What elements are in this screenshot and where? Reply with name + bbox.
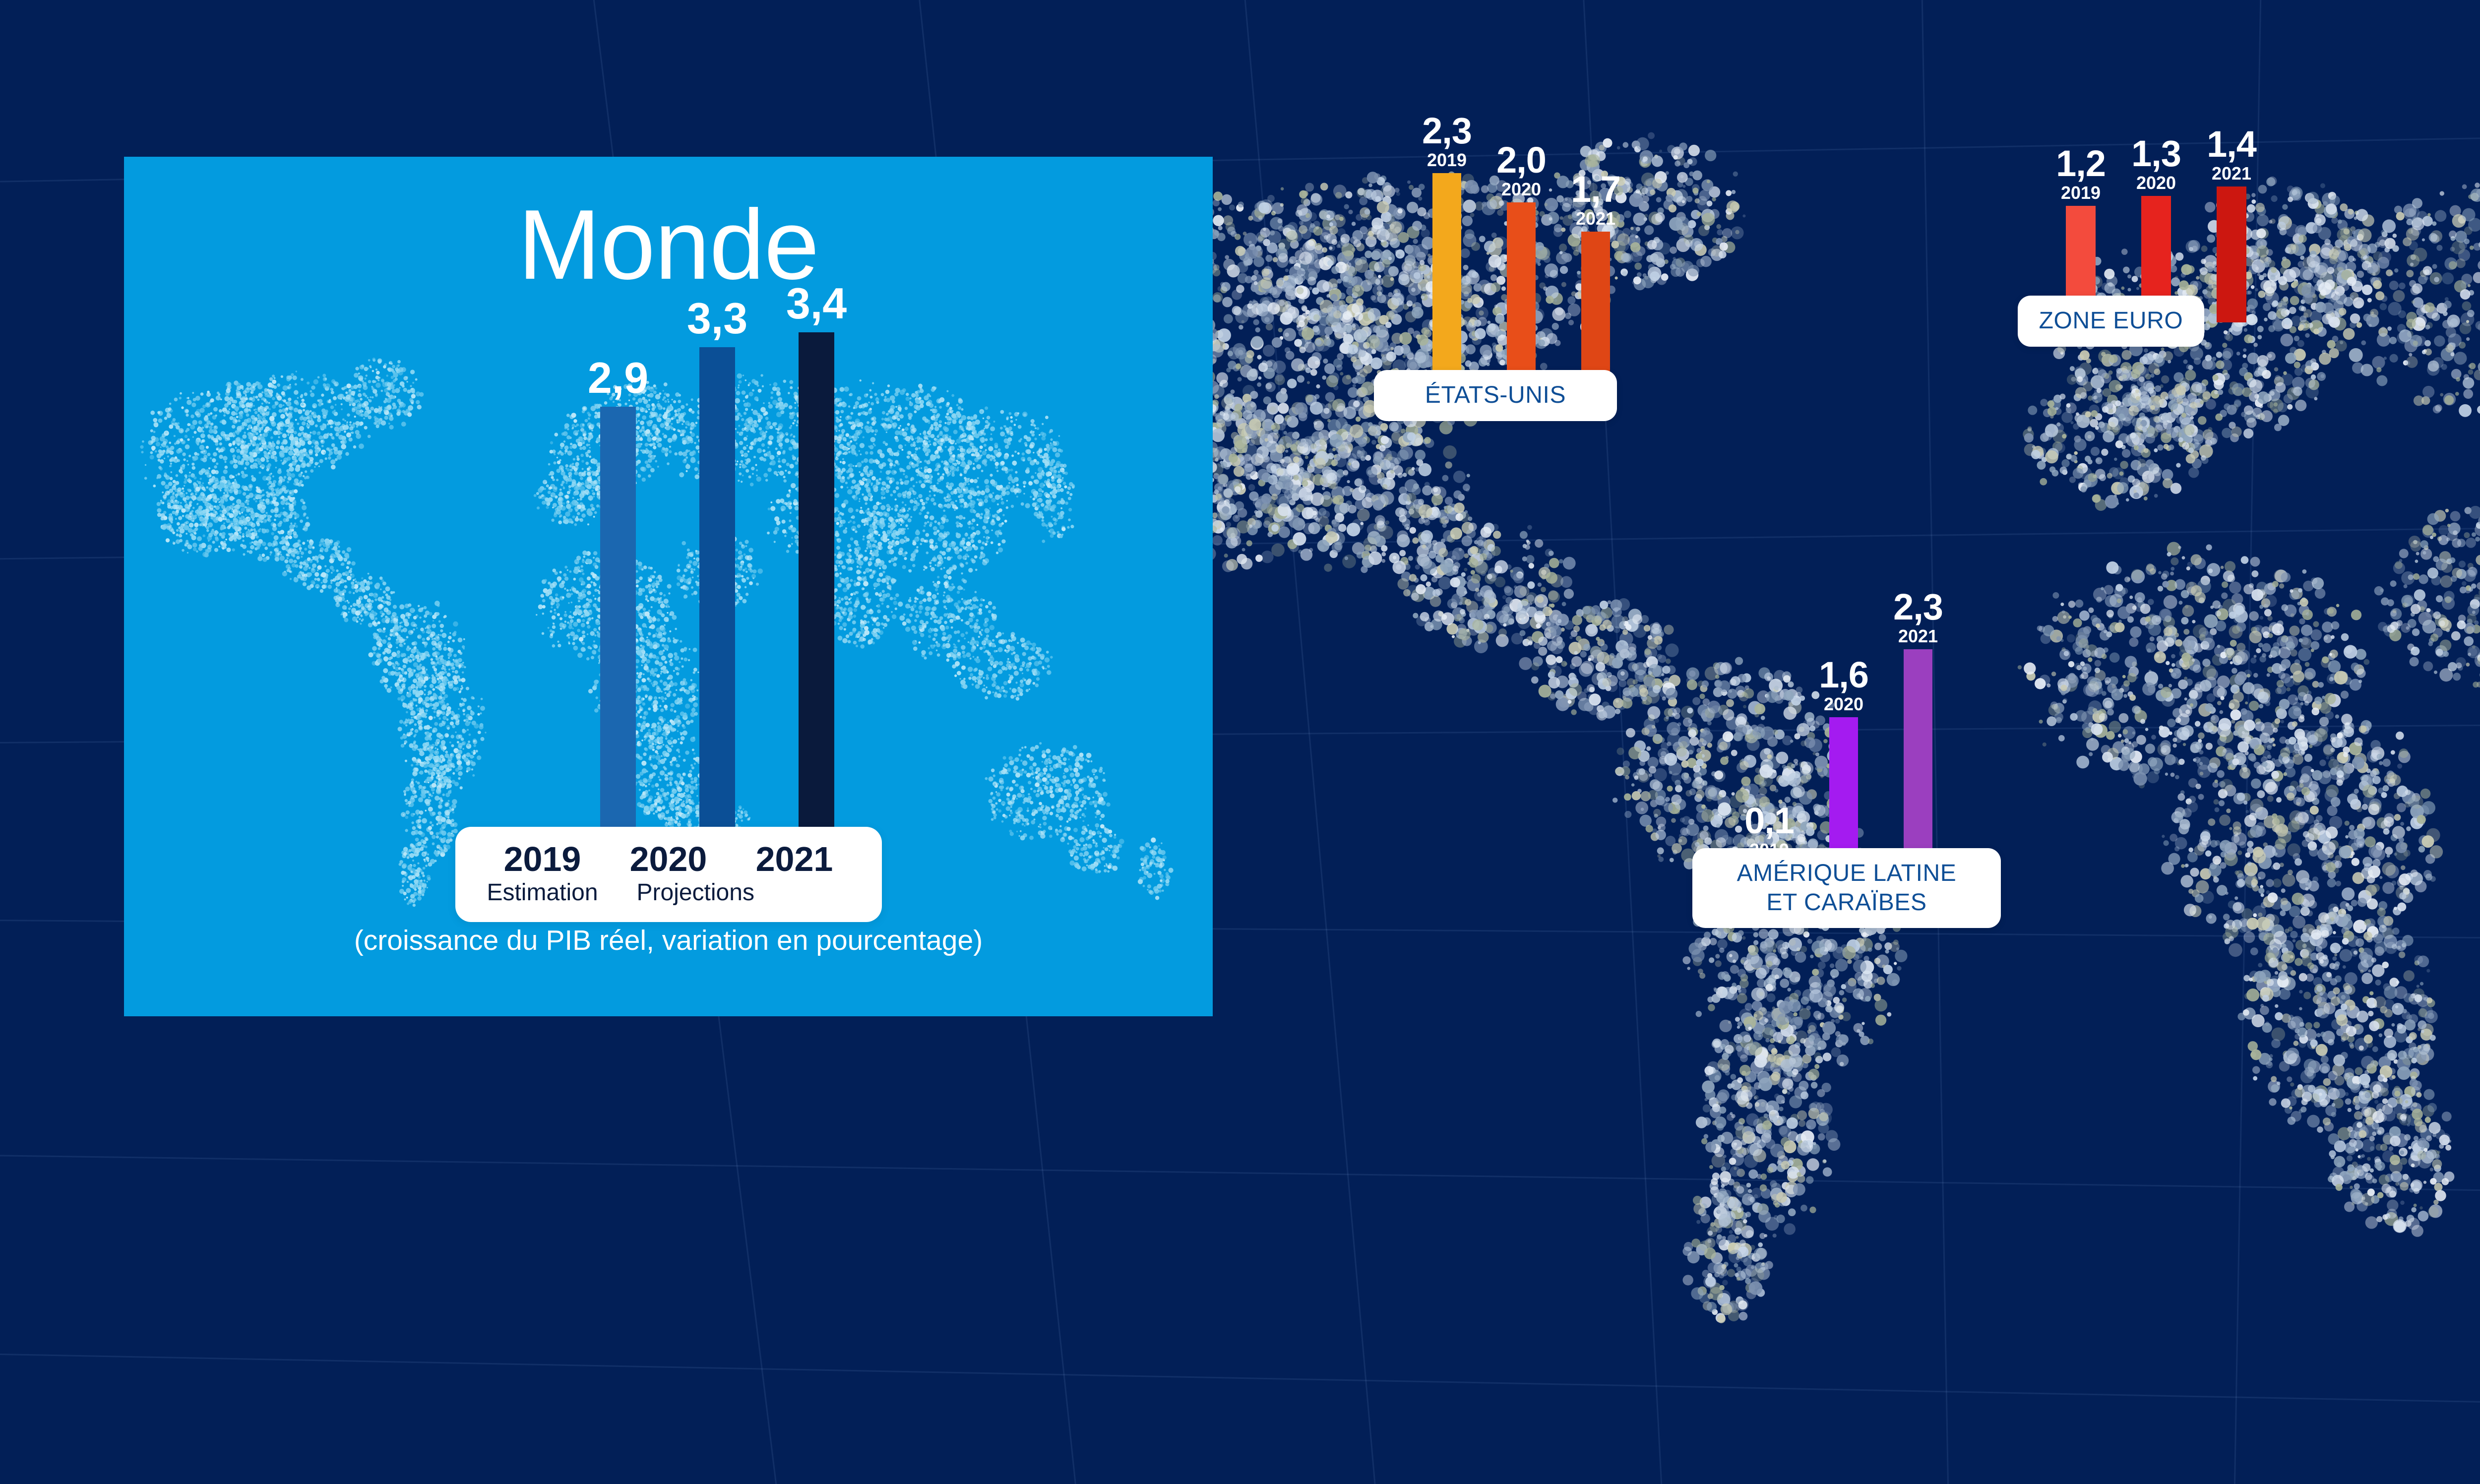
- monde-bar-value: 3,3: [687, 297, 747, 340]
- bar-value: 1,4: [2207, 126, 2256, 163]
- monde-bar-2020: 3,3: [699, 347, 735, 838]
- bar-label-zone-euro-2021: 1,42021: [2207, 126, 2256, 183]
- monde-bar-value: 2,9: [588, 356, 648, 400]
- bar-year: 2020: [1496, 181, 1546, 198]
- bar-label-etats-unis-2021: 1,72021: [1571, 171, 1620, 228]
- bar-year: 2021: [1893, 627, 1943, 645]
- monde-legend-note: Projections: [637, 879, 752, 906]
- monde-legend-year: 2019: [485, 840, 600, 878]
- bar-amerique-latine-2021: 2,32021: [1904, 649, 1932, 873]
- monde-panel: Monde 2,93,33,4 2019Estimation2020Projec…: [124, 157, 1213, 1016]
- region-label-etats-unis[interactable]: ÉTATS-UNIS: [1374, 370, 1617, 421]
- bar-value: 2,3: [1893, 589, 1943, 625]
- monde-bar-2021: 3,4: [799, 332, 834, 838]
- bar-etats-unis-2019: 2,32019: [1432, 173, 1461, 397]
- monde-legend-column: 2019Estimation: [485, 840, 600, 906]
- bar-year: 2021: [2207, 165, 2256, 183]
- bar-label-etats-unis-2019: 2,32019: [1422, 113, 1472, 169]
- monde-legend-year: 2020: [611, 840, 726, 878]
- bar-value: 2,3: [1422, 113, 1472, 149]
- monde-legend-year: 2021: [737, 840, 852, 878]
- monde-legend-column: 2020Projections: [611, 840, 726, 906]
- graticule-meridian: [1219, 0, 1402, 1484]
- bar-etats-unis-2020: 2,02020: [1507, 202, 1536, 397]
- bar-value: 1,3: [2131, 135, 2181, 172]
- bar-year: 2020: [1819, 695, 1868, 713]
- monde-year-legend: 2019Estimation2020Projections2021—: [455, 827, 882, 922]
- region-label-zone-euro[interactable]: ZONE EURO: [2018, 296, 2204, 347]
- bar-label-zone-euro-2019: 1,22019: [2056, 145, 2106, 202]
- bar-value: 0,1: [1744, 803, 1794, 839]
- monde-caption: (croissance du PIB réel, variation en po…: [124, 924, 1213, 957]
- monde-bar-value: 3,4: [786, 282, 847, 325]
- bar-zone-euro-2021: 1,42021: [2217, 186, 2246, 322]
- bar-value: 1,6: [1819, 657, 1868, 693]
- bar-year: 2021: [1571, 210, 1620, 228]
- bar-value: 2,0: [1496, 142, 1546, 179]
- graticule-parallel: [0, 1151, 2480, 1212]
- bar-value: 1,7: [1571, 171, 1620, 208]
- bar-year: 2019: [1422, 151, 1472, 169]
- bar-value: 1,2: [2056, 145, 2106, 182]
- monde-legend-note: Estimation: [485, 879, 600, 906]
- bar-year: 2020: [2131, 174, 2181, 192]
- bar-label-etats-unis-2020: 2,02020: [1496, 142, 1546, 198]
- region-label-amerique-latine[interactable]: AMÉRIQUE LATINE ET CARAÏBES: [1692, 848, 2001, 928]
- bar-label-amerique-latine-2020: 1,62020: [1819, 657, 1868, 713]
- graticule-parallel: [0, 1348, 2480, 1431]
- infographic-stage: Monde 2,93,33,4 2019Estimation2020Projec…: [0, 0, 2480, 1484]
- bar-label-zone-euro-2020: 1,32020: [2131, 135, 2181, 192]
- monde-bar-2019: 2,9: [600, 407, 636, 838]
- monde-title: Monde: [124, 195, 1213, 295]
- bar-year: 2019: [2056, 184, 2106, 202]
- bar-label-amerique-latine-2021: 2,32021: [1893, 589, 1943, 645]
